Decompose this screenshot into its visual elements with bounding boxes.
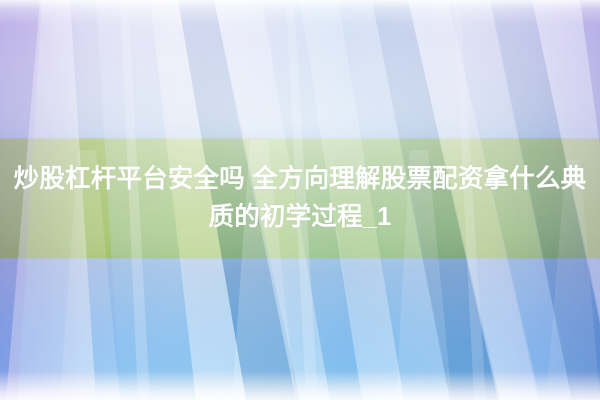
banner-title: 炒股杠杆平台安全吗 全方向理解股票配资拿什么典质的初学过程_1 <box>8 160 592 236</box>
banner-image: 炒股杠杆平台安全吗 全方向理解股票配资拿什么典质的初学过程_1 <box>0 0 600 400</box>
banner-title-block: 炒股杠杆平台安全吗 全方向理解股票配资拿什么典质的初学过程_1 <box>0 160 600 236</box>
